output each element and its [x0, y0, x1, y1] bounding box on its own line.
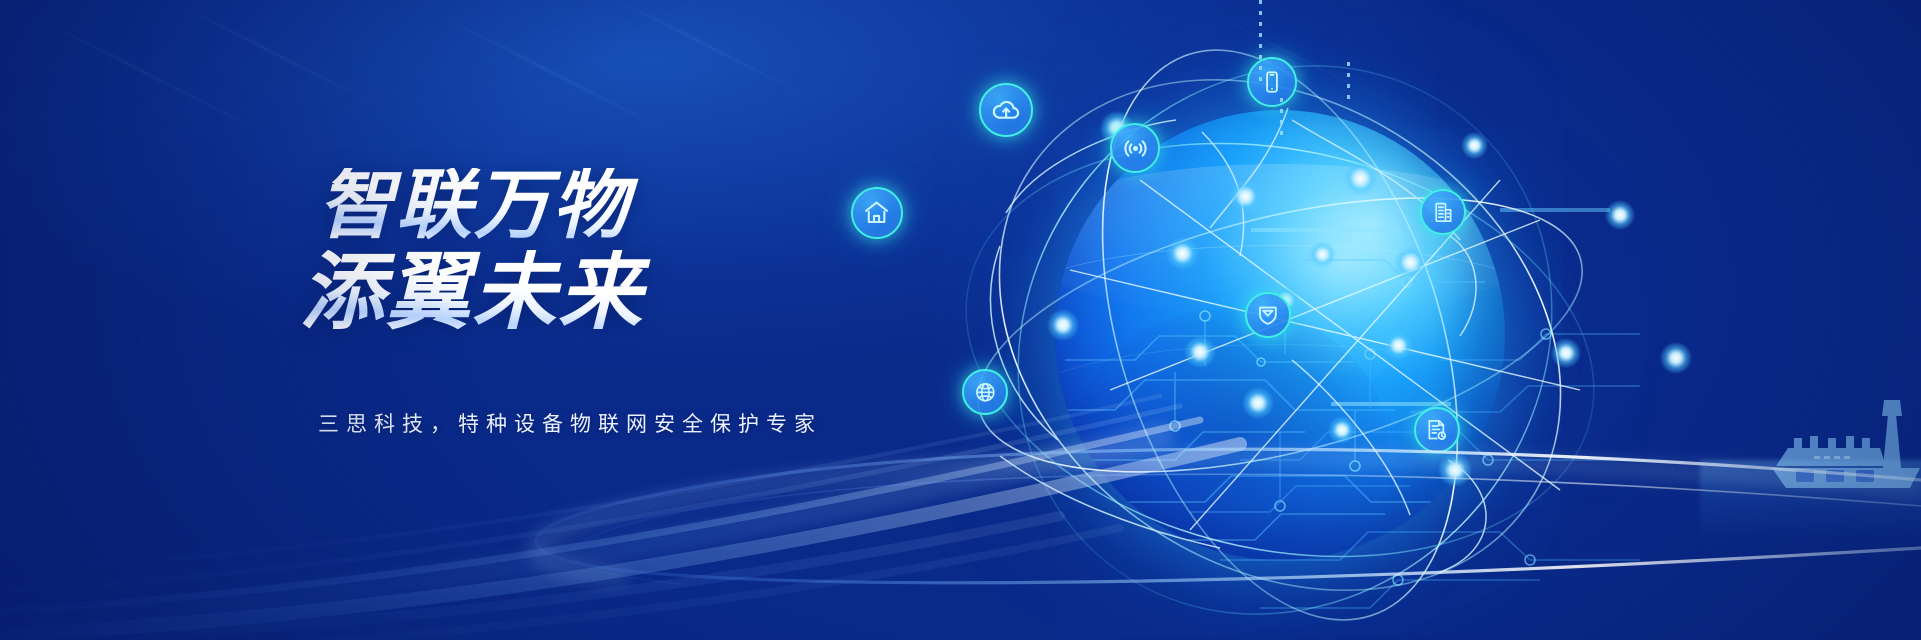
globe-highlight	[1208, 146, 1478, 380]
cargo-ship-silhouette	[1770, 370, 1921, 500]
water-reflection	[1700, 460, 1921, 540]
network-node	[1605, 200, 1635, 230]
globe-sheen-band	[1055, 164, 1505, 317]
globe-shadow	[1073, 308, 1388, 560]
server-rack-icon[interactable]	[1420, 189, 1466, 235]
hero-banner: 智联万物 添翼未来 三思科技，特种设备物联网安全保护专家	[0, 0, 1921, 640]
headline-line-2: 添翼未来	[300, 250, 920, 334]
report-document-icon[interactable]	[1414, 407, 1460, 453]
home-icon[interactable]	[851, 187, 903, 239]
cloud-upload-icon[interactable]	[979, 83, 1033, 137]
globe-network-icon[interactable]	[962, 369, 1008, 415]
headline-line-1: 智联万物	[318, 168, 920, 244]
globe-circuit-traces	[1055, 110, 1505, 560]
network-node	[1660, 342, 1692, 374]
headline-block: 智联万物 添翼未来	[300, 168, 920, 334]
wifi-signal-icon[interactable]	[1110, 123, 1160, 173]
network-node	[1551, 338, 1581, 368]
iot-globe-graphic	[940, 60, 1640, 640]
globe-sphere	[1055, 110, 1505, 560]
shield-icon[interactable]	[1245, 292, 1291, 338]
subtitle-text: 三思科技，特种设备物联网安全保护专家	[318, 408, 822, 438]
network-node	[1461, 132, 1488, 159]
mobile-phone-icon[interactable]	[1247, 57, 1297, 107]
